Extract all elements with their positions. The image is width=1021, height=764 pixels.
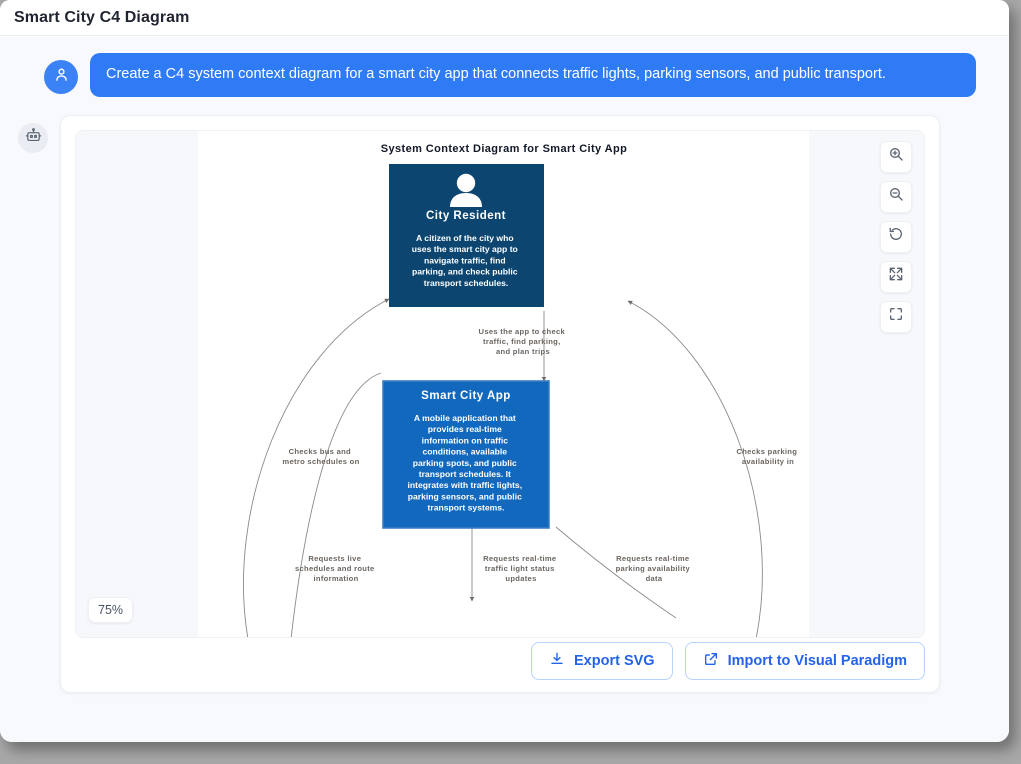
city-resident-desc: A citizen of the city who uses the smart… xyxy=(412,233,520,288)
c4-diagram: System Context Diagram for Smart City Ap… xyxy=(76,131,925,638)
import-visual-paradigm-button[interactable]: Import to Visual Paradigm xyxy=(685,642,925,680)
user-message-bubble: Create a C4 system context diagram for a… xyxy=(90,53,976,97)
smart-city-app-title: Smart City App xyxy=(421,390,511,402)
page-title: Smart City C4 Diagram xyxy=(14,9,190,27)
edge-line-checks-parking xyxy=(628,301,762,638)
import-visual-paradigm-label: Import to Visual Paradigm xyxy=(728,653,907,669)
assistant-message-row: System Context Diagram for Smart City Ap… xyxy=(18,115,991,693)
node-city-resident[interactable]: City Resident A citizen of the city who … xyxy=(389,164,544,307)
reset-view-button[interactable] xyxy=(880,221,912,253)
fit-screen-button[interactable] xyxy=(880,261,912,293)
export-svg-label: Export SVG xyxy=(574,653,655,669)
diagram-result-card: System Context Diagram for Smart City Ap… xyxy=(60,115,940,693)
action-bar: Export SVG Import to Visual Paradigm xyxy=(531,642,925,680)
zoom-level-badge[interactable]: 75% xyxy=(88,597,133,623)
zoom-in-icon xyxy=(888,146,904,167)
user-icon xyxy=(53,66,70,88)
fullscreen-icon xyxy=(888,306,904,327)
edge-label-checks-parking: Checks parking availability in xyxy=(736,447,799,466)
edge-line-requests-live-schedules xyxy=(291,373,381,638)
export-svg-button[interactable]: Export SVG xyxy=(531,642,673,680)
edge-label-uses-app: Uses the app to check traffic, find park… xyxy=(479,327,568,356)
zoom-out-icon xyxy=(888,186,904,207)
edge-label-requests-traffic-light: Requests real-time traffic light status … xyxy=(483,554,559,583)
reset-icon xyxy=(888,226,904,247)
external-link-icon xyxy=(703,651,719,671)
user-message-row: Create a C4 system context diagram for a… xyxy=(44,53,991,97)
fullscreen-button[interactable] xyxy=(880,301,912,333)
city-resident-title: City Resident xyxy=(426,210,506,222)
bot-avatar xyxy=(18,123,48,153)
robot-icon xyxy=(25,127,42,149)
diagram-toolbar xyxy=(880,141,912,333)
edge-line-checks-bus-metro xyxy=(243,299,389,638)
app-window: Smart City C4 Diagram Create a C4 system… xyxy=(0,0,1009,742)
zoom-in-button[interactable] xyxy=(880,141,912,173)
chat-body: Create a C4 system context diagram for a… xyxy=(0,37,1009,742)
diagram-title: System Context Diagram for Smart City Ap… xyxy=(381,143,627,155)
diagram-viewport[interactable]: System Context Diagram for Smart City Ap… xyxy=(75,130,925,638)
titlebar: Smart City C4 Diagram xyxy=(0,0,1009,36)
user-avatar xyxy=(44,60,78,94)
download-icon xyxy=(549,651,565,671)
node-smart-city-app[interactable]: Smart City App A mobile application that… xyxy=(383,381,549,528)
edge-label-checks-bus-metro: Checks bus and metro schedules on xyxy=(282,447,359,466)
expand-arrows-icon xyxy=(888,266,904,287)
edge-label-requests-parking-data: Requests real-time parking availability … xyxy=(616,554,693,583)
edge-label-requests-live-schedules: Requests live schedules and route inform… xyxy=(295,554,377,583)
zoom-out-button[interactable] xyxy=(880,181,912,213)
